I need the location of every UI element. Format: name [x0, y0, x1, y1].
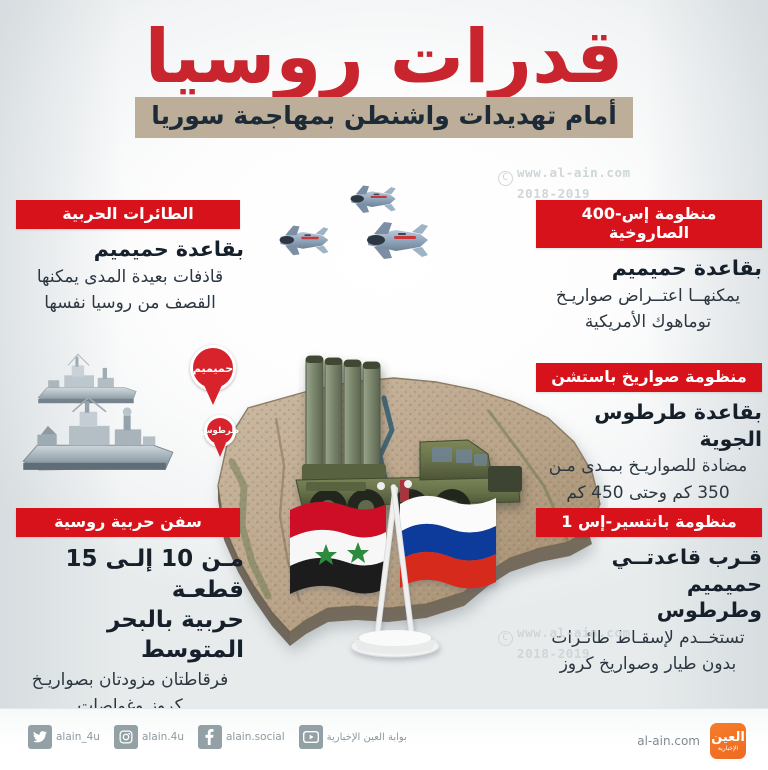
- headline-ships-line2: حربية بالبحر المتوسط: [16, 605, 244, 666]
- info-block-pantsir: منظومة بانتسير-إس 1 قـرب قاعدتــي حميميم…: [534, 508, 762, 676]
- facebook-handle: alain.social: [226, 731, 285, 743]
- desc-aircraft-line2: القصف من روسيا نفسها: [16, 291, 244, 315]
- social-link-twitter[interactable]: alain_4u: [28, 725, 100, 749]
- headline-s400: بقاعدة حميميم: [534, 255, 762, 282]
- logo-secondary-text: الإخبارية: [718, 746, 738, 752]
- syria-russia-flags-image: [288, 470, 503, 670]
- map-pin-tail: [214, 443, 226, 457]
- desc-pantsir-line1: تستخــدم لإسقـاط طائـرات: [534, 626, 762, 650]
- headline-ships-line1: مـن 10 إلـى 15 قطعـة: [16, 544, 244, 605]
- info-block-bastion: منظومة صواريخ باستشن بقاعدة طرطوس الجوية…: [534, 363, 762, 505]
- info-block-aircraft: الطائرات الحربية بقاعدة حميميم قاذفات بع…: [16, 200, 244, 315]
- badge-ships: سفن حربية روسية: [16, 508, 240, 537]
- social-link-instagram[interactable]: alain.4u: [114, 725, 184, 749]
- social-links: alain_4u alain.4u alain.social: [28, 725, 421, 749]
- copyright-icon: C: [498, 171, 513, 186]
- youtube-handle: بوابة العين الإخبارية: [327, 732, 407, 743]
- infographic-page: قدرات روسيا أمام تهديدات واشنطن بمهاجمة …: [0, 0, 768, 770]
- twitter-icon: [28, 725, 52, 749]
- warships-image: [0, 345, 184, 485]
- desc-s400-line1: يمكنهــا اعتــراض صواريـخ: [534, 284, 762, 308]
- desc-bastion-line2: 350 كم وحتى 450 كم: [534, 481, 762, 505]
- instagram-icon: [114, 725, 138, 749]
- twitter-handle: alain_4u: [56, 731, 100, 743]
- headline-pantsir-line1: قـرب قاعدتــي حميميم: [534, 544, 762, 597]
- map-pin-tartus[interactable]: طرطوس: [204, 415, 236, 457]
- watermark-years: 2018-2019: [517, 186, 590, 201]
- badge-aircraft: الطائرات الحربية: [16, 200, 240, 229]
- info-block-s400: منظومة إس-400 الصاروخية بقاعدة حميميم يم…: [534, 200, 762, 334]
- footer: alain_4u alain.4u alain.social: [0, 708, 768, 770]
- watermark-site: www.al-ain.com: [517, 165, 631, 180]
- subtitle-bar: أمام تهديدات واشنطن بمهاجمة سوريا: [135, 97, 633, 138]
- headline-pantsir-line2: وطرطوس: [534, 597, 762, 624]
- brand-block[interactable]: al-ain.com العين الإخبارية: [637, 723, 746, 759]
- desc-s400-line2: توماهوك الأمريكية: [534, 310, 762, 334]
- al-ain-logo: العين الإخبارية: [710, 723, 746, 759]
- badge-bastion: منظومة صواريخ باستشن: [536, 363, 762, 392]
- desc-pantsir-line2: بدون طيار وصواريخ كروز: [534, 652, 762, 676]
- map-pin-tail: [204, 385, 222, 405]
- desc-ships-line1: فرقاطتان مزودتان بصواريـخ: [16, 668, 244, 692]
- social-link-youtube[interactable]: بوابة العين الإخبارية: [299, 725, 407, 749]
- headline-bastion: بقاعدة طرطوس الجوية: [534, 399, 762, 452]
- fighter-jets-image: [258, 180, 448, 300]
- logo-primary-text: العين: [711, 731, 745, 744]
- facebook-icon: [198, 725, 222, 749]
- badge-s400: منظومة إس-400 الصاروخية: [536, 200, 762, 248]
- badge-pantsir: منظومة بانتسير-إس 1: [536, 508, 762, 537]
- headline-aircraft: بقاعدة حميميم: [16, 236, 244, 263]
- social-link-facebook[interactable]: alain.social: [198, 725, 285, 749]
- instagram-handle: alain.4u: [142, 731, 184, 743]
- desc-aircraft-line1: قاذفات بعيدة المدى يمكنها: [16, 265, 244, 289]
- site-url: al-ain.com: [637, 734, 700, 748]
- youtube-icon: [299, 725, 323, 749]
- page-subtitle: أمام تهديدات واشنطن بمهاجمة سوريا: [151, 101, 617, 130]
- page-title: قدرات روسيا: [0, 22, 768, 93]
- header: قدرات روسيا أمام تهديدات واشنطن بمهاجمة …: [0, 22, 768, 138]
- desc-bastion-line1: مضادة للصواريـخ بمـدى مـن: [534, 454, 762, 478]
- map-pin-hmeimim[interactable]: حميميم: [190, 345, 236, 405]
- watermark-top: Cwww.al-ain.com 2018-2019: [498, 165, 631, 202]
